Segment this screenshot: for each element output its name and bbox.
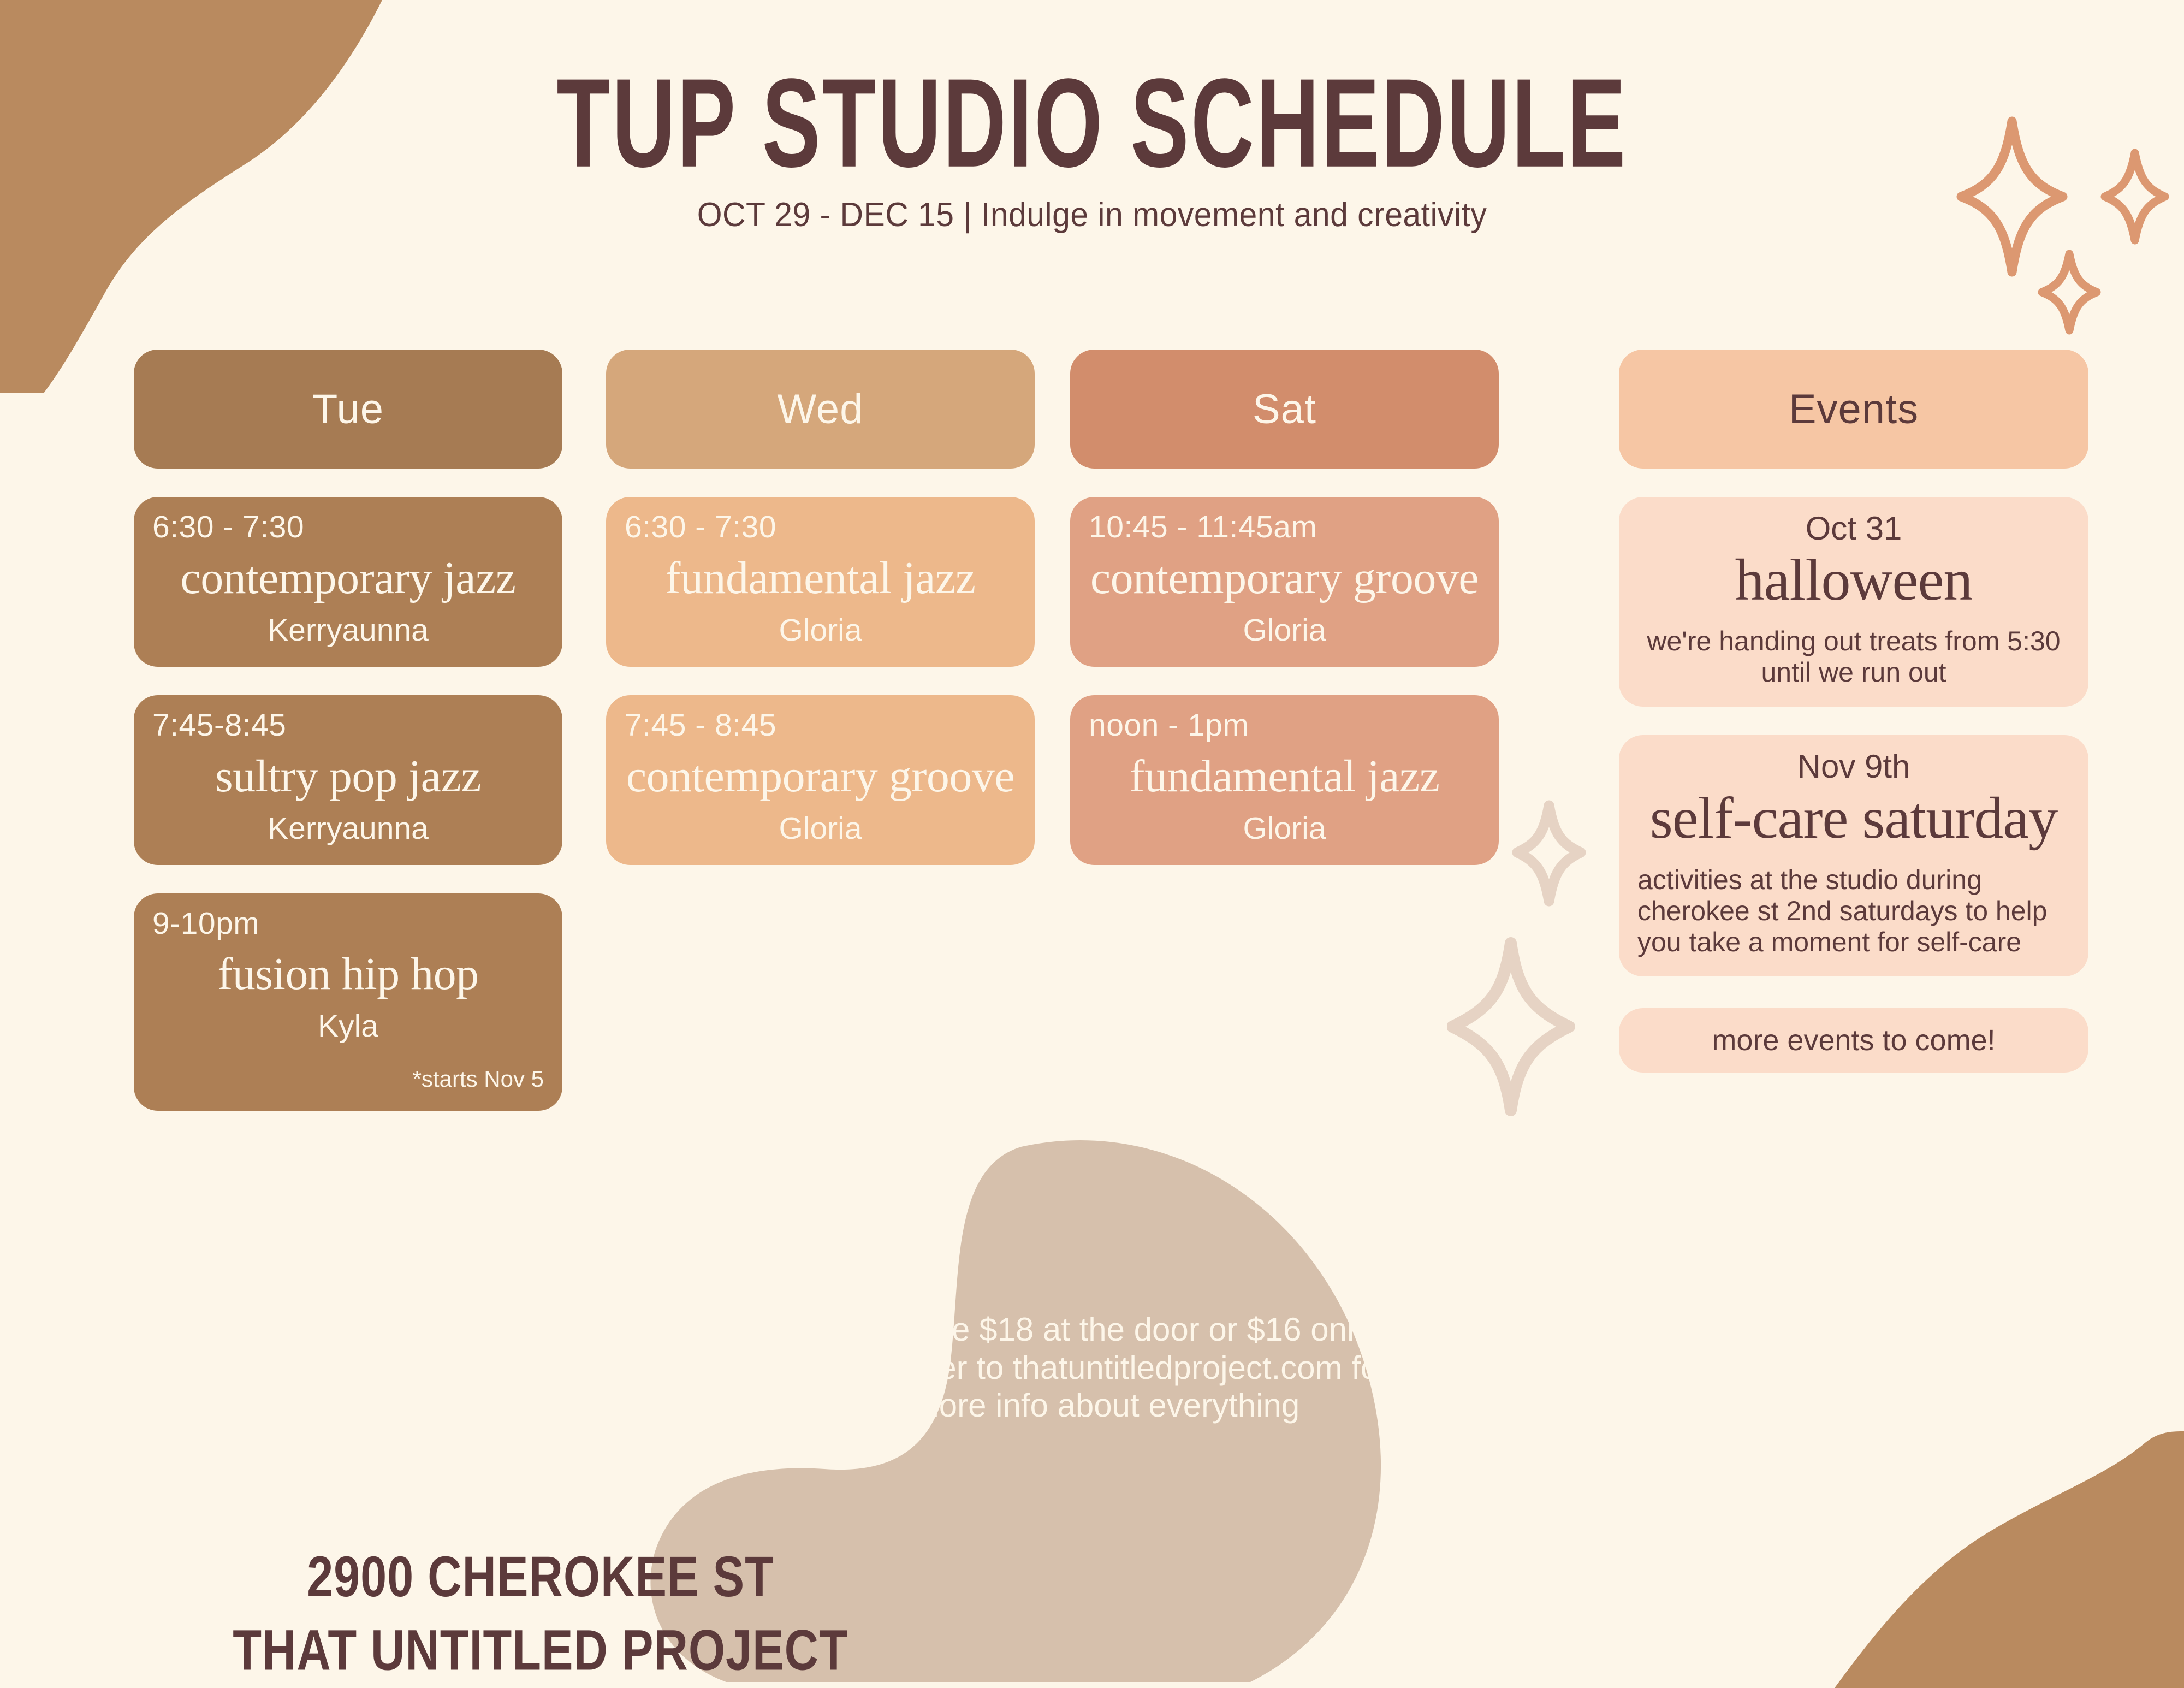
- class-name: contemporary jazz: [152, 557, 544, 600]
- class-card[interactable]: 7:45-8:45 sultry pop jazz Kerryaunna: [134, 695, 562, 865]
- class-name: fundamental jazz: [625, 557, 1016, 600]
- class-instructor: Kyla: [152, 1008, 544, 1044]
- poster-header: TUP STUDIO SCHEDULE OCT 29 - DEC 15 | In…: [0, 60, 2184, 234]
- class-instructor: Gloria: [625, 612, 1016, 648]
- class-instructor: Gloria: [1089, 612, 1480, 648]
- event-name: halloween: [1637, 553, 2070, 607]
- class-card[interactable]: noon - 1pm fundamental jazz Gloria: [1070, 695, 1499, 865]
- class-time: 7:45 - 8:45: [625, 709, 1016, 742]
- column-tue: Tue 6:30 - 7:30 contemporary jazz Kerrya…: [134, 350, 562, 1111]
- class-card[interactable]: 10:45 - 11:45am contemporary groove Glor…: [1070, 497, 1499, 667]
- column-wed: Wed 6:30 - 7:30 fundamental jazz Gloria …: [606, 350, 1035, 865]
- event-description: we're handing out treats from 5:30 until…: [1637, 626, 2070, 688]
- class-time: 9-10pm: [152, 908, 544, 940]
- class-name: sultry pop jazz: [152, 755, 544, 798]
- class-time: noon - 1pm: [1089, 709, 1480, 742]
- class-instructor: Gloria: [625, 810, 1016, 846]
- class-name: contemporary groove: [1089, 557, 1480, 600]
- footer-address-block: 2900 CHEROKEE ST THAT UNTITLED PROJECT: [134, 1540, 947, 1687]
- day-header-sat: Sat: [1070, 350, 1499, 469]
- day-header-events: Events: [1619, 350, 2088, 469]
- class-card[interactable]: 6:30 - 7:30 fundamental jazz Gloria: [606, 497, 1035, 667]
- class-time: 10:45 - 11:45am: [1089, 511, 1480, 544]
- class-instructor: Gloria: [1089, 810, 1480, 846]
- footer-address: 2900 CHEROKEE ST: [134, 1540, 947, 1614]
- page-subtitle: OCT 29 - DEC 15 | Indulge in movement an…: [55, 196, 2129, 234]
- event-card[interactable]: Nov 9th self-care saturday activities at…: [1619, 735, 2088, 976]
- class-time: 6:30 - 7:30: [152, 511, 544, 544]
- day-header-tue: Tue: [134, 350, 562, 469]
- class-note: *starts Nov 5: [152, 1066, 544, 1092]
- column-events: Events Oct 31 halloween we're handing ou…: [1619, 350, 2088, 1073]
- more-events-badge[interactable]: more events to come!: [1619, 1008, 2088, 1073]
- sparkle-small-icon: [2037, 248, 2102, 336]
- class-time: 6:30 - 7:30: [625, 511, 1016, 544]
- class-card[interactable]: 6:30 - 7:30 contemporary jazz Kerryaunna: [134, 497, 562, 667]
- footer-studio-name: THAT UNTITLED PROJECT: [134, 1614, 947, 1687]
- column-sat: Sat 10:45 - 11:45am contemporary groove …: [1070, 350, 1499, 865]
- class-time: 7:45-8:45: [152, 709, 544, 742]
- page-title: TUP STUDIO SCHEDULE: [197, 60, 1987, 186]
- class-instructor: Kerryaunna: [152, 810, 544, 846]
- class-name: contemporary groove: [625, 755, 1016, 798]
- day-header-wed: Wed: [606, 350, 1035, 469]
- event-card[interactable]: Oct 31 halloween we're handing out treat…: [1619, 497, 2088, 707]
- class-card[interactable]: 7:45 - 8:45 contemporary groove Gloria: [606, 695, 1035, 865]
- pricing-info: classes are $18 at the door or $16 onlin…: [781, 1311, 1431, 1425]
- class-instructor: Kerryaunna: [152, 612, 544, 648]
- class-name: fundamental jazz: [1089, 755, 1480, 798]
- event-name: self-care saturday: [1637, 791, 2070, 845]
- event-description: activities at the studio during cherokee…: [1637, 864, 2070, 958]
- event-date: Oct 31: [1637, 511, 2070, 546]
- class-name: fusion hip hop: [152, 953, 544, 996]
- class-card[interactable]: 9-10pm fusion hip hop Kyla *starts Nov 5: [134, 893, 562, 1111]
- event-date: Nov 9th: [1637, 749, 2070, 784]
- poster-canvas: TUP STUDIO SCHEDULE OCT 29 - DEC 15 | In…: [0, 0, 2184, 1688]
